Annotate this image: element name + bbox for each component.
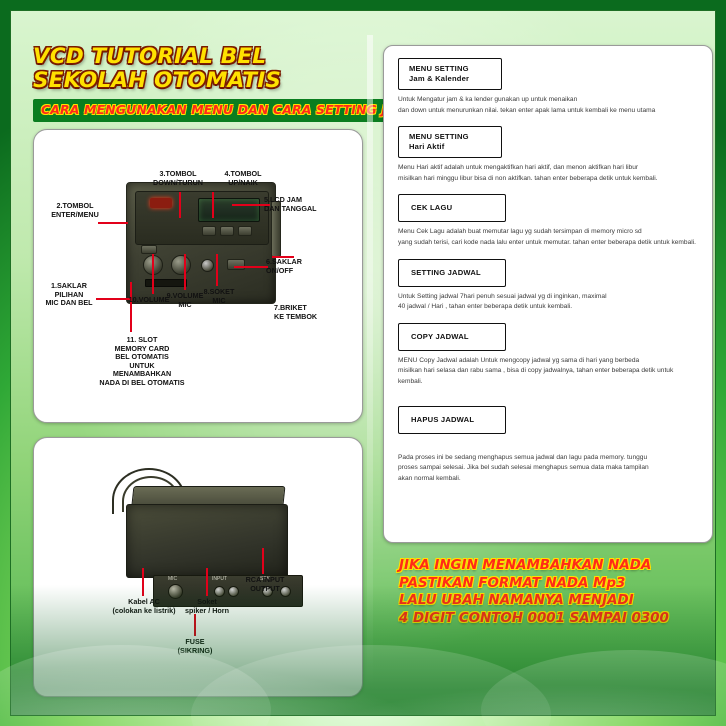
pointer-line-soket-spiker bbox=[206, 568, 208, 596]
menu-description-cek-lagu: Menu Cek Lagu adalah buat memutar lagu y… bbox=[398, 227, 698, 248]
label-fuse-sikring: FUSE (SIKRING) bbox=[164, 638, 226, 655]
pointer-line-11 bbox=[130, 282, 132, 332]
menu-box-line1: MENU SETTING bbox=[409, 132, 491, 142]
pointer-line-8 bbox=[216, 254, 218, 286]
pointer-line-3 bbox=[179, 192, 181, 218]
label-3-tombol-down: 3.TOMBOL DOWN/TURUN bbox=[142, 170, 214, 187]
label-4-tombol-up: 4.TOMBOL UP/NAIK bbox=[212, 170, 274, 187]
title-block: VCD TUTORIAL BEL SEKOLAH OTOMATIS CARA M… bbox=[33, 45, 363, 127]
pointer-line-fuse bbox=[194, 614, 196, 636]
rear-label-input: INPUT bbox=[212, 576, 227, 582]
label-11-slot-memory-card: 11. SLOT MEMORY CARD BEL OTOMATIS UNTUK … bbox=[96, 336, 188, 388]
down-button[interactable] bbox=[220, 226, 234, 236]
enter-menu-button[interactable] bbox=[202, 226, 216, 236]
bel-otomatis-front-unit bbox=[126, 182, 276, 304]
menu-section-setting-jadwal: SETTING JADWAL Untuk Setting jadwal 7har… bbox=[398, 259, 698, 313]
menu-section-jam-kalender: MENU SETTING Jam & Kalender Untuk Mengat… bbox=[398, 58, 698, 116]
note-line-1: JIKA INGIN MENAMBAHKAN NADA bbox=[399, 557, 705, 575]
label-10-volume: 10.VOLUME bbox=[120, 296, 178, 305]
mic-bel-selector-switch[interactable] bbox=[141, 245, 157, 254]
menu-section-copy-jadwal: COPY JADWAL MENU Copy Jadwal adalah Untu… bbox=[398, 323, 698, 388]
lcd-display bbox=[198, 198, 260, 222]
menu-description-hari-aktif: Menu Hari aktif adalah untuk mengaktifka… bbox=[398, 163, 698, 184]
menu-box-line2: Jam & Kalender bbox=[409, 74, 491, 84]
pointer-line-6 bbox=[234, 266, 268, 268]
pointer-line-2 bbox=[98, 222, 128, 224]
label-1-saklar-pilihan: 1.SAKLAR PILIHAN MIC DAN BEL bbox=[40, 282, 98, 308]
menu-section-cek-lagu: CEK LAGU Menu Cek Lagu adalah buat memut… bbox=[398, 194, 698, 248]
menu-section-hari-aktif: MENU SETTING Hari Aktif Menu Hari aktif … bbox=[398, 126, 698, 184]
up-button[interactable] bbox=[238, 226, 252, 236]
device-front-photo-card: 2.TOMBOL ENTER/MENU 3.TOMBOL DOWN/TURUN … bbox=[33, 129, 363, 423]
menu-section-hapus-jadwal: HAPUS JADWAL Pada proses ini be sedang m… bbox=[398, 398, 698, 485]
menu-description-hapus-jadwal: Pada proses ini be sedang menghapus semu… bbox=[398, 453, 698, 485]
rca-input-jack[interactable] bbox=[214, 586, 225, 597]
menu-box-line1: MENU SETTING bbox=[409, 64, 491, 74]
menu-box-line1: HAPUS JADWAL bbox=[411, 415, 493, 425]
menu-description-setting-jadwal: Untuk Setting jadwal 7hari penuh sesuai … bbox=[398, 292, 698, 313]
enclosure-body: MIC INPUT SPK bbox=[126, 504, 288, 578]
note-line-2: PASTIKAN FORMAT NADA Mp3 bbox=[399, 575, 705, 593]
label-soket-spiker: Soket spiker / Horn bbox=[176, 598, 238, 615]
page-subtitle: CARA MENGUNAKAN MENU DAN CARA SETTING JA… bbox=[41, 102, 438, 117]
indicator-led bbox=[150, 198, 172, 208]
note-line-4: 4 DIGIT CONTOH 0001 SAMPAI 0300 bbox=[399, 610, 705, 628]
menu-box-line2: Hari Aktif bbox=[409, 142, 491, 152]
menu-box-line1: COPY JADWAL bbox=[411, 332, 493, 342]
menu-box-setting-jam-kalender[interactable]: MENU SETTING Jam & Kalender bbox=[398, 58, 502, 90]
device-rear-photo-card: MIC INPUT SPK Kabel AC (colokan ke listr… bbox=[33, 437, 363, 697]
note-block: JIKA INGIN MENAMBAHKAN NADA PASTIKAN FOR… bbox=[391, 551, 713, 633]
front-panel bbox=[135, 191, 269, 245]
poster-canvas: VCD TUTORIAL BEL SEKOLAH OTOMATIS CARA M… bbox=[0, 0, 726, 726]
pointer-line-9 bbox=[184, 254, 186, 290]
pointer-line-4 bbox=[212, 192, 214, 218]
label-5-lcd-jam-tanggal: 5.LCD JAM DAN TANGGAL bbox=[264, 196, 338, 213]
page-title: VCD TUTORIAL BEL SEKOLAH OTOMATIS bbox=[33, 45, 363, 93]
label-7-briket-ke-tembok: 7.BRIKET KE TEMBOK bbox=[274, 304, 336, 321]
power-switch[interactable] bbox=[227, 259, 245, 270]
pointer-line-10 bbox=[152, 254, 154, 294]
left-column: VCD TUTORIAL BEL SEKOLAH OTOMATIS CARA M… bbox=[33, 41, 363, 697]
menu-box-line1: SETTING JADWAL bbox=[411, 268, 493, 278]
rear-label-mic: MIC bbox=[168, 576, 177, 582]
label-6-saklar-onoff: 6.SAKLAR ON/OFF bbox=[266, 258, 332, 275]
pointer-line-kabel-ac bbox=[142, 568, 144, 596]
column-divider bbox=[367, 35, 373, 691]
menu-box-copy-jadwal[interactable]: COPY JADWAL bbox=[398, 323, 506, 351]
menu-box-setting-hari-aktif[interactable]: MENU SETTING Hari Aktif bbox=[398, 126, 502, 158]
mic-volume-knob[interactable] bbox=[171, 255, 191, 275]
label-rca-input-output: RCA INPUT OUTPUT bbox=[234, 576, 296, 593]
bel-otomatis-rear-unit: MIC INPUT SPK bbox=[106, 468, 296, 588]
menu-box-line1: CEK LAGU bbox=[411, 203, 493, 213]
label-2-tombol-enter-menu: 2.TOMBOL ENTER/MENU bbox=[44, 202, 106, 219]
menu-instructions-card: MENU SETTING Jam & Kalender Untuk Mengat… bbox=[383, 45, 713, 543]
mic-socket[interactable] bbox=[201, 259, 214, 272]
menu-box-cek-lagu[interactable]: CEK LAGU bbox=[398, 194, 506, 222]
mic-gain-knob[interactable] bbox=[168, 584, 183, 599]
right-column: MENU SETTING Jam & Kalender Untuk Mengat… bbox=[383, 45, 713, 695]
menu-description-jam-kalender: Untuk Mengatur jam & ka lender gunakan u… bbox=[398, 95, 698, 116]
pointer-line-rca bbox=[262, 548, 264, 574]
menu-description-copy-jadwal: MENU Copy Jadwal adalah Untuk mengcopy j… bbox=[398, 356, 698, 388]
menu-box-setting-jadwal[interactable]: SETTING JADWAL bbox=[398, 259, 506, 287]
menu-box-hapus-jadwal[interactable]: HAPUS JADWAL bbox=[398, 406, 506, 434]
poster-inner-frame: VCD TUTORIAL BEL SEKOLAH OTOMATIS CARA M… bbox=[10, 10, 716, 716]
note-line-3: LALU UBAH NAMANYA MENJADI bbox=[399, 592, 705, 610]
